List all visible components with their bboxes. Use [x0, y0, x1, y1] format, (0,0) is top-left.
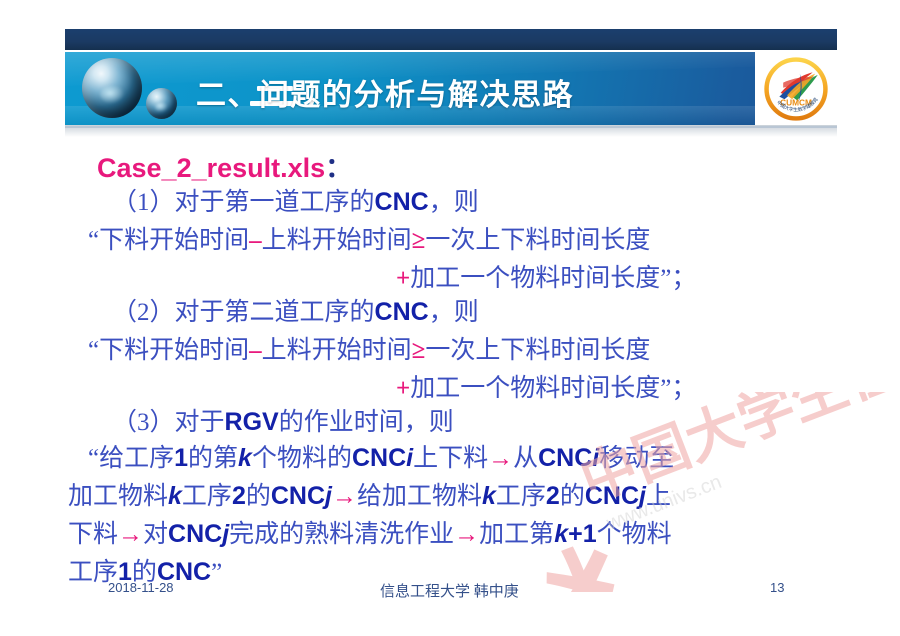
footer-page-number: 13: [770, 580, 784, 595]
q3-arrow-1-icon: →: [488, 445, 513, 472]
q3-s2-k: k: [168, 482, 182, 510]
q2-term-b: 上料开始时间: [262, 337, 412, 364]
q2-term-c: 一次上下料时间长度: [425, 337, 650, 364]
result-file-colon: ：: [325, 153, 352, 183]
q3-s3-k: k: [554, 520, 568, 548]
q3-s3-e: 个物料: [597, 521, 672, 548]
result-file-name: Case_2_result.xls: [97, 153, 325, 183]
q3-s3-cnc: CNC: [168, 520, 222, 548]
item-2-formula-line-2: +加工一个物料时间长度”；: [396, 368, 696, 404]
q3-s1-a: 给工序: [99, 445, 174, 472]
list-item-3-label: （3）对于RGV的作业时间，则: [112, 402, 454, 438]
q1-term-a: 下料开始时间: [99, 227, 249, 254]
q3-s1-k: k: [238, 444, 252, 472]
q2-open-quote: “: [88, 337, 99, 364]
footer-date: 2018-11-28: [108, 580, 174, 595]
q3-s2-n3: 2: [546, 482, 560, 510]
decorative-sphere-large-icon: [82, 58, 142, 118]
item-2-suffix: ，则: [429, 299, 479, 326]
q2-term-a: 下料开始时间: [99, 337, 249, 364]
item-3-sequence-line-2: 加工物料k工序2的CNCj→给加工物料k工序2的CNCj上: [68, 476, 671, 512]
q3-open-quote: “: [88, 445, 99, 472]
q1-minus-operator: –: [249, 227, 262, 254]
q3-s2-a: 加工物料: [68, 483, 168, 510]
item-3-sequence-line-1: “给工序1的第k个物料的CNCi上下料→从CNCi移动至: [88, 438, 674, 474]
q3-s3-plus1: +1: [568, 520, 597, 548]
item-3-suffix: 的作业时间，则: [279, 409, 454, 436]
item-2-prefix: （2）对于第二道工序的: [112, 299, 375, 326]
q2-close-quote: ”；: [660, 375, 696, 402]
list-item-1-label: （1）对于第一道工序的CNC，则: [112, 182, 479, 218]
q3-s1-b: 的第: [188, 445, 238, 472]
q3-s2-e: 工序: [496, 483, 546, 510]
result-file-title: Case_2_result.xls：: [97, 146, 352, 185]
q2-term-d: 加工一个物料时间长度: [410, 375, 660, 402]
item-1-formula-line-1: “下料开始时间–上料开始时间≥一次上下料时间长度: [88, 220, 650, 256]
q3-s1-c: 个物料的: [252, 445, 352, 472]
q3-s3-b: 对: [143, 521, 168, 548]
q3-s1-d: 上下料: [413, 445, 488, 472]
q1-term-d: 加工一个物料时间长度: [410, 265, 660, 292]
list-item-2-label: （2）对于第二道工序的CNC，则: [112, 292, 479, 328]
header-topbar: [65, 29, 837, 50]
item-1-formula-line-2: +加工一个物料时间长度”；: [396, 258, 696, 294]
q1-open-quote: “: [88, 227, 99, 254]
q3-s1-n1: 1: [174, 444, 188, 472]
item-1-prefix: （1）对于第一道工序的: [112, 189, 375, 216]
q1-plus-operator: +: [396, 265, 410, 292]
q3-s2-j: j: [325, 482, 332, 510]
item-3-code: RGV: [225, 408, 279, 436]
q3-s1-cnc: CNC: [352, 444, 406, 472]
q3-s3-a: 下料: [68, 521, 118, 548]
q1-close-quote: ”；: [660, 265, 696, 292]
slide-canvas: 二、问题的分析与解决思路 CUMCM 中国: [0, 0, 900, 636]
q3-s2-c: 的: [246, 483, 271, 510]
item-3-sequence-line-3: 下料→对CNCj完成的熟料清洗作业→加工第k+1个物料: [68, 514, 672, 550]
cumcm-logo-icon: CUMCM 中国大学生数学建模竞赛: [764, 57, 828, 121]
q3-s2-cnc: CNC: [271, 482, 325, 510]
q2-minus-operator: –: [249, 337, 262, 364]
q3-s2-cnc2: CNC: [585, 482, 639, 510]
q3-s3-d: 加工第: [479, 521, 554, 548]
footer-organization: 信息工程大学 韩中庚: [380, 580, 519, 601]
q3-s2-f: 的: [560, 483, 585, 510]
q3-s3-c: 完成的熟料清洗作业: [229, 521, 454, 548]
q1-term-b: 上料开始时间: [262, 227, 412, 254]
item-1-suffix: ，则: [429, 189, 479, 216]
q3-s2-j2: j: [639, 482, 646, 510]
item-3-prefix: （3）对于: [112, 409, 225, 436]
q3-s2-g: 上: [646, 483, 671, 510]
q2-ge-operator: ≥: [412, 337, 426, 364]
q3-s2-n2: 2: [232, 482, 246, 510]
q3-s1-e: 从: [513, 445, 538, 472]
item-2-formula-line-1: “下料开始时间–上料开始时间≥一次上下料时间长度: [88, 330, 650, 366]
q1-ge-operator: ≥: [412, 227, 426, 254]
q2-plus-operator: +: [396, 375, 410, 402]
logo-plate: CUMCM 中国大学生数学建模竞赛: [755, 52, 837, 125]
q3-s2-k2: k: [482, 482, 496, 510]
q3-arrow-3-icon: →: [118, 521, 143, 548]
decorative-sphere-small-icon: [146, 88, 177, 119]
q3-s2-d: 给加工物料: [357, 483, 482, 510]
q3-s1-f: 移动至: [599, 445, 674, 472]
q3-s1-cnc2: CNC: [538, 444, 592, 472]
q3-s2-b: 工序: [182, 483, 232, 510]
item-2-code: CNC: [375, 298, 429, 326]
page-title: 二、问题的分析与解决思路: [196, 70, 574, 114]
item-1-code: CNC: [375, 188, 429, 216]
q1-term-c: 一次上下料时间长度: [425, 227, 650, 254]
header-underline: [65, 126, 837, 128]
q3-arrow-2-icon: →: [332, 483, 357, 510]
slide-footer: 2018-11-28 信息工程大学 韩中庚 13: [0, 580, 900, 602]
q3-arrow-4-icon: →: [454, 521, 479, 548]
